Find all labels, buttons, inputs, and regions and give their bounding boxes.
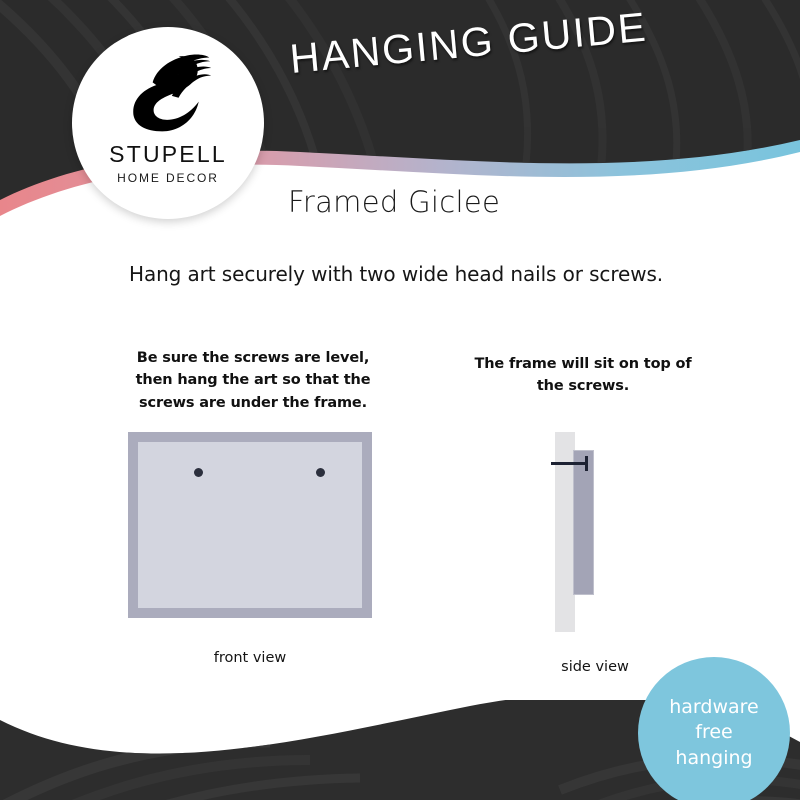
side-view-screw-shaft <box>551 462 587 465</box>
front-view-diagram <box>128 432 372 618</box>
front-view-mat <box>138 442 362 608</box>
front-view-label: front view <box>128 650 372 666</box>
side-view-label: side view <box>500 659 690 675</box>
side-view-screw-head <box>585 456 588 471</box>
badge-line-2: free <box>695 720 732 745</box>
stupell-swoosh-icon <box>120 43 216 141</box>
side-view-diagram <box>548 430 644 634</box>
logo-subwordmark: HOME DECOR <box>117 172 219 184</box>
badge-line-3: hanging <box>675 746 752 771</box>
screw-dot-right <box>316 468 325 477</box>
side-view-frame <box>573 450 594 595</box>
hardware-free-hanging-badge: hardware free hanging <box>638 657 790 800</box>
badge-line-1: hardware <box>669 695 759 720</box>
hanging-guide-page: HANGING GUIDE STUPELL HOME DECOR Framed … <box>0 0 800 800</box>
front-view-caption: Be sure the screws are level, then hang … <box>128 347 378 414</box>
screw-dot-left <box>194 468 203 477</box>
side-view-caption: The frame will sit on top of the screws. <box>470 353 696 398</box>
page-title: HANGING GUIDE <box>288 0 711 83</box>
brand-logo-badge: STUPELL HOME DECOR <box>72 27 264 219</box>
main-instruction-text: Hang art securely with two wide head nai… <box>129 262 663 286</box>
logo-wordmark: STUPELL <box>109 143 227 166</box>
product-type-heading: Framed Giclee <box>288 185 500 219</box>
